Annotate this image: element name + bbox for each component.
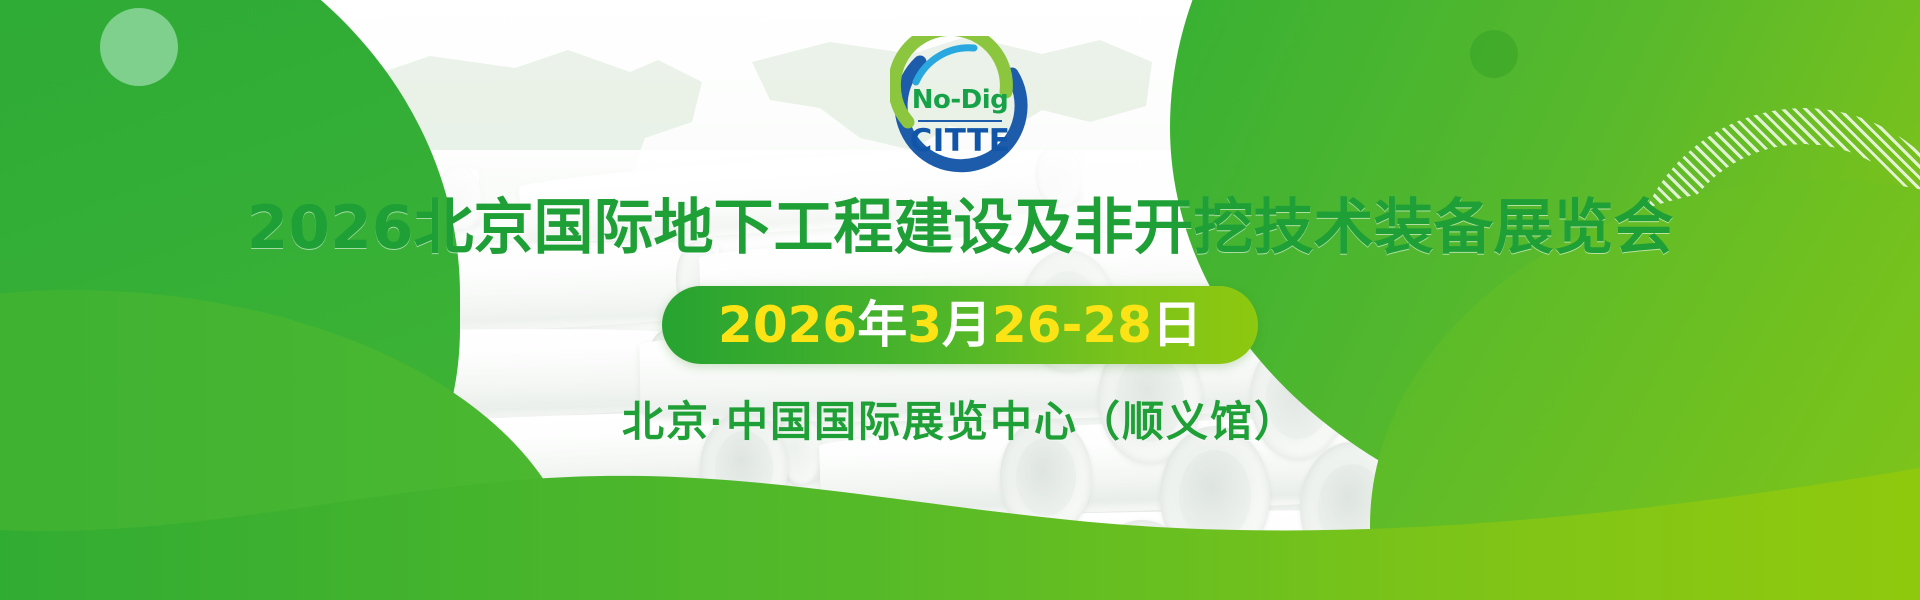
banner-title: 2026北京国际地下工程建设及非开挖技术装备展览会 (247, 196, 1674, 260)
date-month-unit: 月 (942, 297, 992, 353)
event-date-text: 2026年3月26-28日 (718, 300, 1202, 350)
date-year-unit: 年 (857, 297, 907, 353)
no-dig-citte-logo: No-Dig CITTE (890, 36, 1030, 176)
logo-divider (918, 120, 1002, 122)
date-days: 26-28 (992, 296, 1152, 354)
exhibition-banner: No-Dig CITTE 2026北京国际地下工程建设及非开挖技术装备展览会 2… (0, 0, 1920, 600)
banner-title-text: 北京国际地下工程建设及非开挖技术装备展览会 (414, 194, 1674, 261)
venue-text: 北京·中国国际展览中心（顺义馆） (622, 388, 1298, 449)
event-date-pill: 2026年3月26-28日 (662, 286, 1258, 364)
banner-content: No-Dig CITTE 2026北京国际地下工程建设及非开挖技术装备展览会 2… (0, 0, 1920, 600)
date-month: 3 (907, 296, 942, 354)
date-day-unit: 日 (1152, 297, 1202, 353)
logo-text-no-dig: No-Dig (890, 85, 1030, 115)
banner-title-year: 2026 (247, 193, 414, 263)
logo-text-citte: CITTE (890, 123, 1030, 159)
date-year: 2026 (718, 296, 857, 354)
